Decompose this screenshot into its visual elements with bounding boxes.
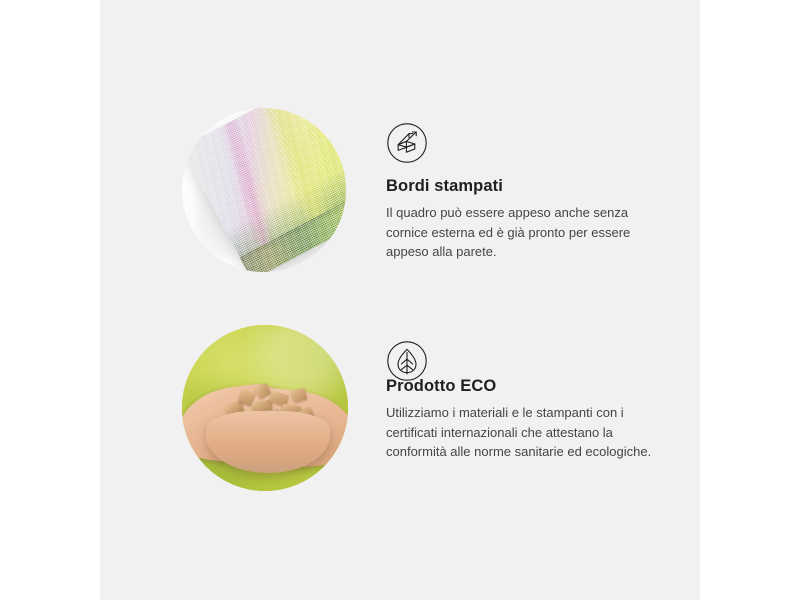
feature-description: Il quadro può essere appeso anche senza … bbox=[386, 203, 666, 262]
wood-chips-in-hands-photo bbox=[182, 325, 348, 491]
content-panel: Bordi stampati Il quadro può essere appe… bbox=[100, 0, 700, 600]
feature-block-bordi-stampati: Bordi stampati Il quadro può essere appe… bbox=[100, 100, 700, 280]
feature-title: Prodotto ECO bbox=[386, 376, 666, 396]
feature-title: Bordi stampati bbox=[386, 176, 666, 196]
canvas-wrapped-edge bbox=[240, 187, 346, 272]
feature-text-prodotto-eco: Prodotto ECO Utilizziamo i materiali e l… bbox=[386, 376, 666, 462]
product-feature-page: Bordi stampati Il quadro può essere appe… bbox=[0, 0, 800, 600]
feature-block-prodotto-eco: Prodotto ECO Utilizziamo i materiali e l… bbox=[100, 318, 700, 498]
feature-description: Utilizziamo i materiali e le stampanti c… bbox=[386, 403, 666, 462]
feature-text-bordi-stampati: Bordi stampati Il quadro può essere appe… bbox=[386, 176, 666, 262]
canvas-wrapped-edge-icon bbox=[386, 122, 428, 164]
canvas-corner-photo bbox=[182, 108, 346, 272]
